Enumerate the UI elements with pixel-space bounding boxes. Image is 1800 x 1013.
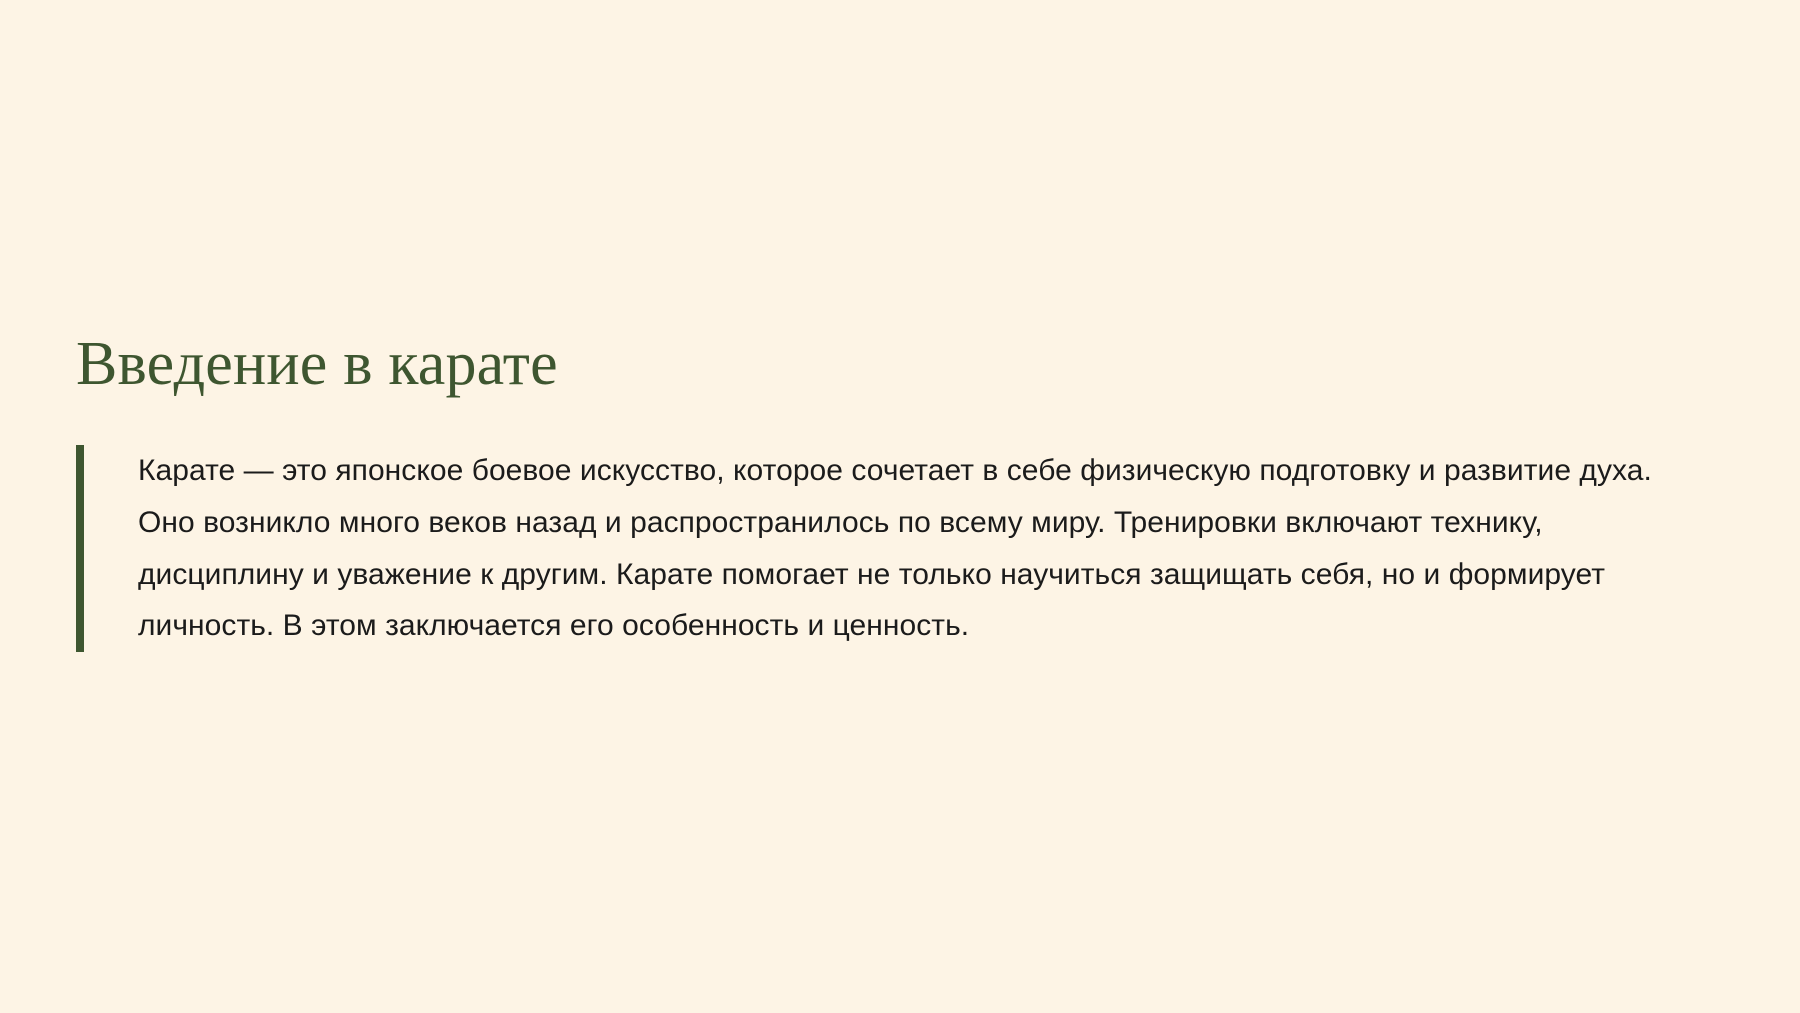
page-title: Введение в карате [76, 330, 1716, 399]
page-root: Введение в карате Карате — это японское … [0, 0, 1800, 1013]
intro-paragraph: Карате — это японское боевое искусство, … [138, 445, 1716, 651]
intro-blockquote: Карате — это японское боевое искусство, … [76, 445, 1716, 651]
article-container: Введение в карате Карате — это японское … [76, 330, 1716, 652]
